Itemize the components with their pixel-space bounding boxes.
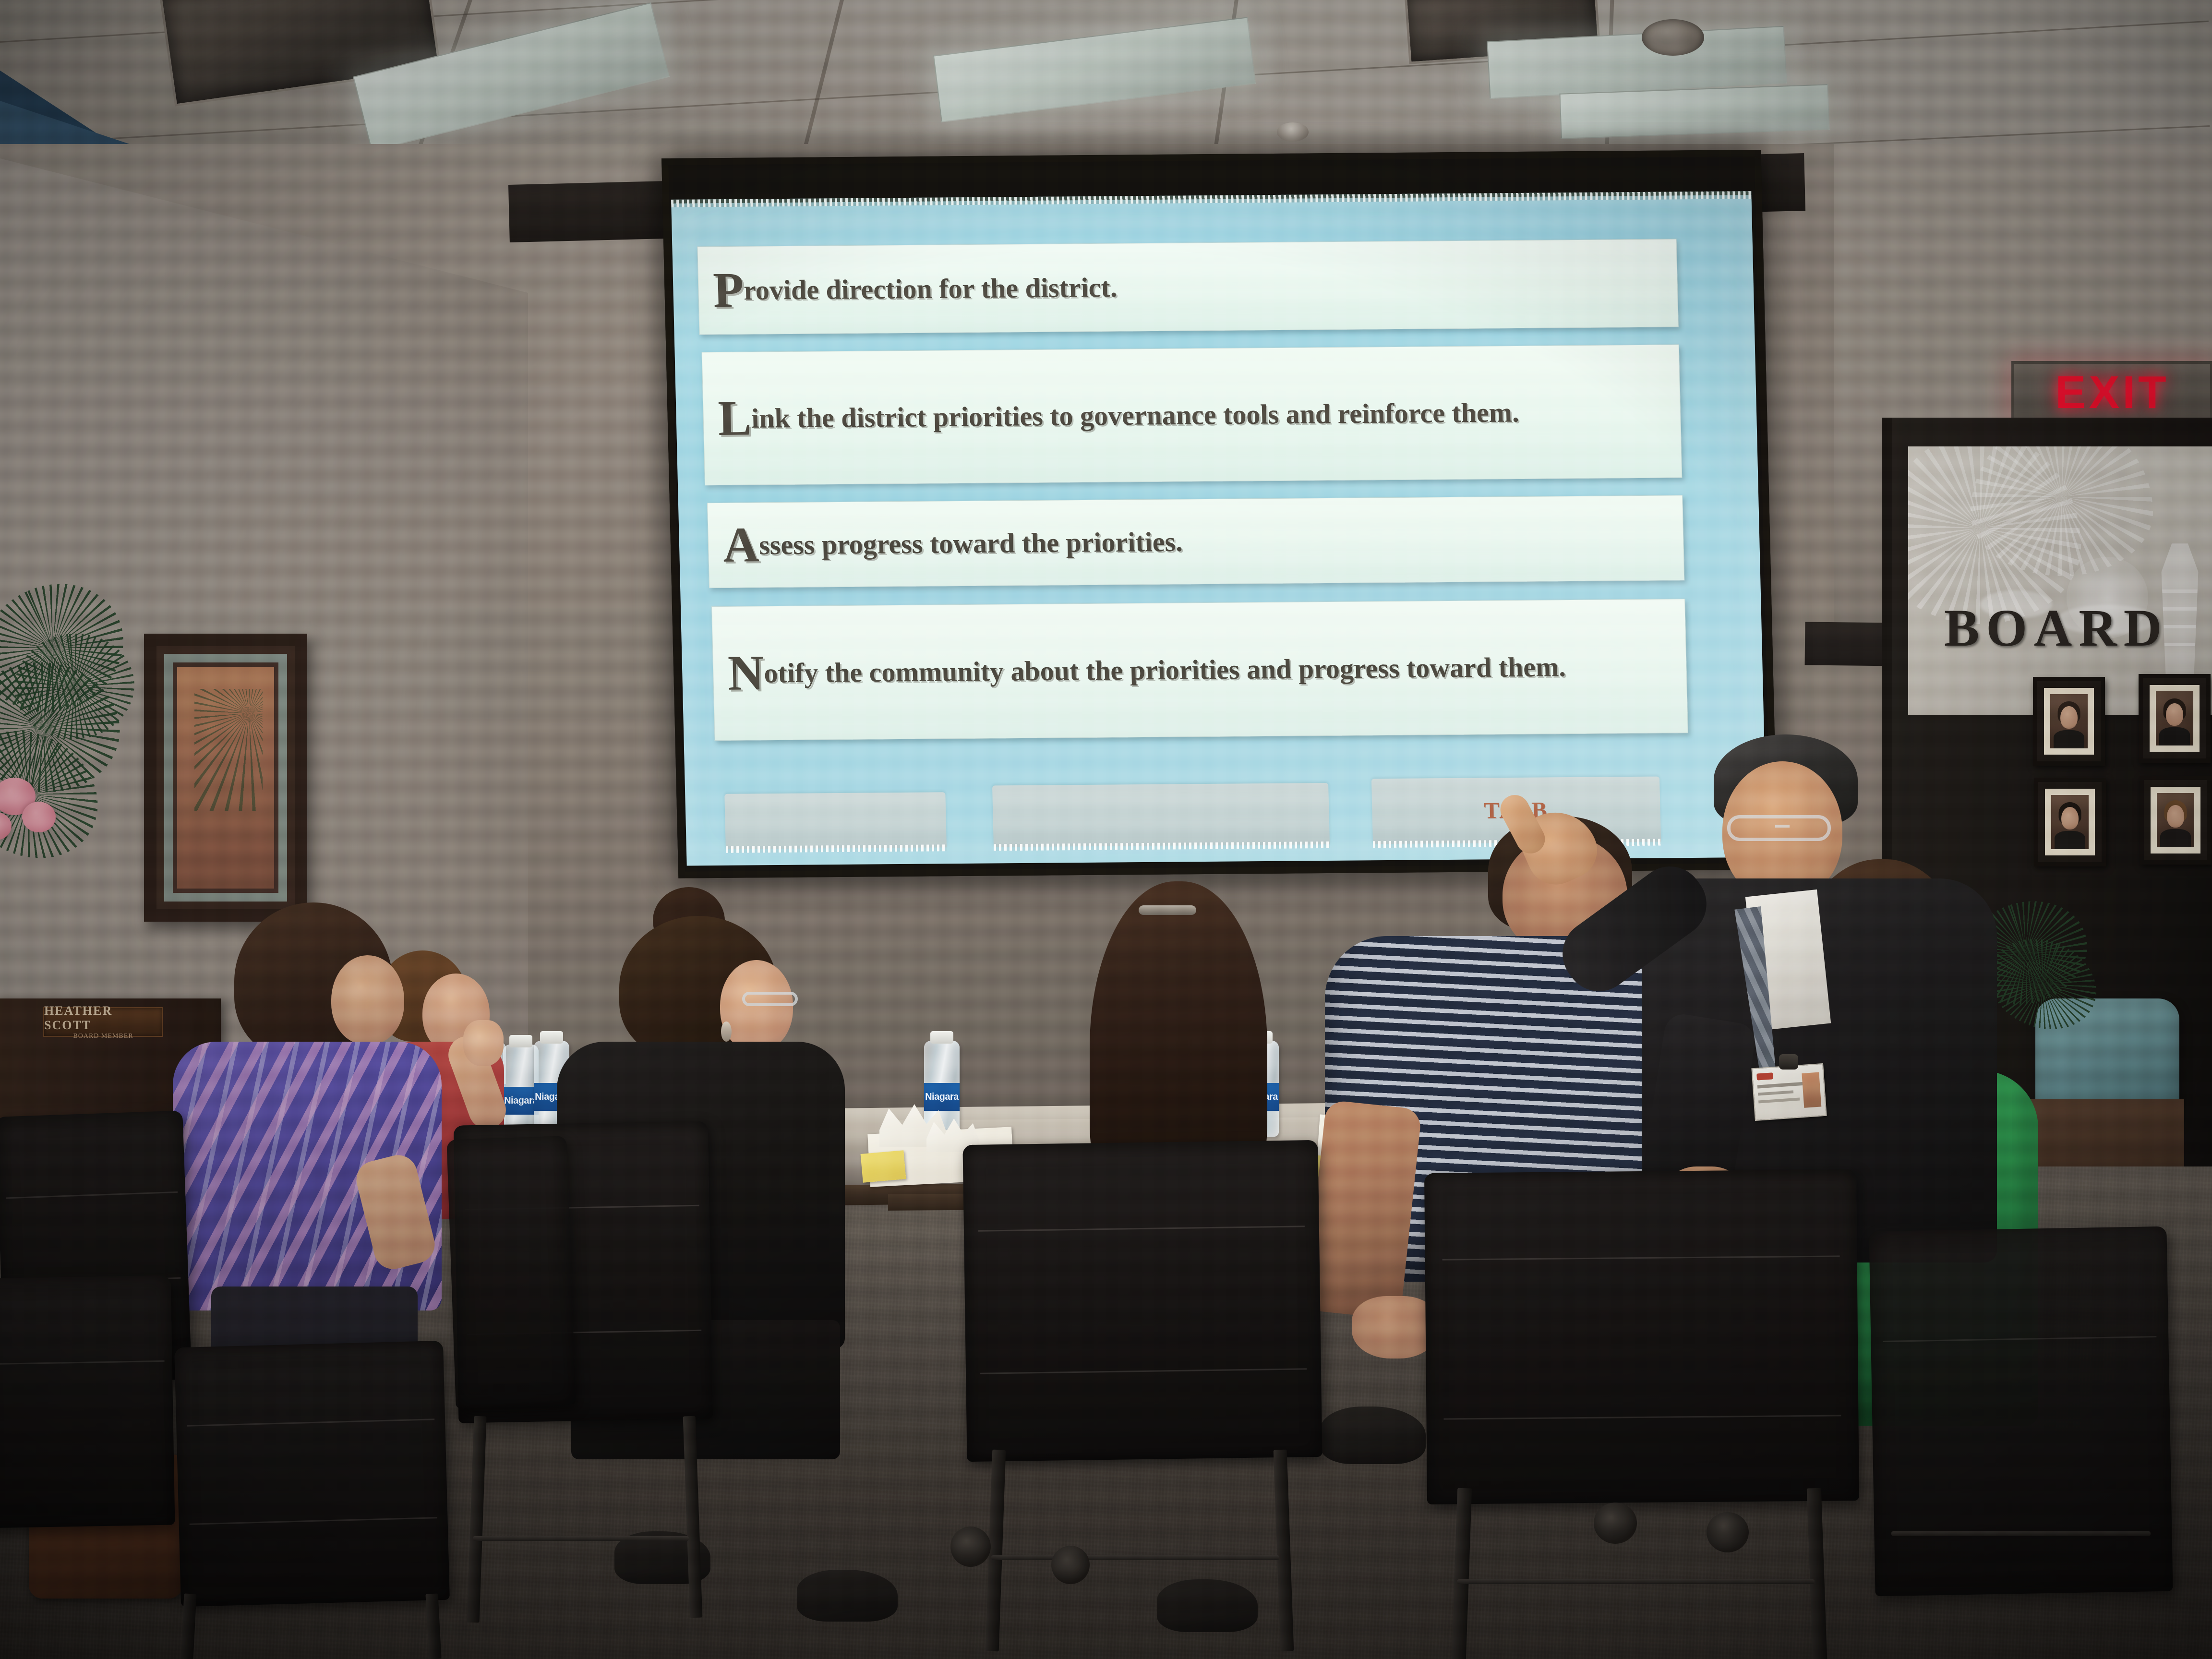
portrait-body (2159, 727, 2190, 745)
portrait-mat (2150, 685, 2200, 752)
slide-footer-box (992, 783, 1330, 847)
eyeglass-bridge (1775, 825, 1790, 828)
slide-dropcap: L (717, 391, 752, 446)
chair-seam (978, 1226, 1305, 1232)
portrait-head (2167, 805, 2184, 828)
ceiling-light-fixture (1560, 84, 1830, 139)
chair-caster (1707, 1512, 1749, 1552)
chair-caster (950, 1527, 991, 1567)
lighthouse-band (2156, 589, 2204, 593)
head (331, 955, 404, 1045)
portrait-photo (2157, 793, 2194, 847)
wall-portrait (2139, 674, 2211, 763)
slide-bullet-box: Provide direction for the district. (697, 239, 1679, 335)
portrait-head (2060, 706, 2078, 729)
chair-seam (1443, 1415, 1841, 1419)
dress-shoe (797, 1570, 898, 1622)
yellow-notepad (861, 1150, 906, 1183)
eyeglasses (1727, 815, 1831, 841)
portrait-body (2054, 730, 2084, 748)
slide-bullet-box: Notify the community about the prioritie… (711, 599, 1688, 741)
pink-flower (22, 802, 56, 832)
exit-sign: EXIT (2011, 361, 2212, 424)
framed-wall-art (144, 634, 307, 922)
badge-line (1758, 1098, 1800, 1104)
art-palm-motif (194, 689, 262, 811)
portrait-head (2166, 703, 2183, 726)
portrait-mat (2044, 688, 2094, 755)
badge-line (1758, 1090, 1793, 1095)
slide-bullet-box: Link the district priorities to governan… (702, 344, 1683, 485)
slide-surface: ◄ T ● I ≡ — ÷ ☰ ( Ⓤ ▫ ▸ ❘❘❘❘ ┌ ┐ ▔ ▃▃▃▃▃… (671, 191, 1767, 866)
eyeglasses (742, 992, 798, 1006)
slide-bullet-text: Assess progress toward the priorities. (708, 522, 1199, 565)
wall-portrait (2140, 776, 2212, 865)
chair-caster (1594, 1503, 1637, 1544)
chair-back[interactable] (1424, 1169, 1859, 1504)
smoke-detector (1277, 122, 1309, 142)
portrait-head (2061, 807, 2079, 829)
chair-seam (190, 1517, 437, 1525)
slide-bullet-box: Assess progress toward the priorities. (707, 495, 1684, 588)
chair-back[interactable] (962, 1140, 1322, 1462)
portrait-photo (2050, 694, 2088, 748)
nameplate-role: BOARD MEMBER (73, 1033, 133, 1040)
slide-bullet-text: Provide direction for the district. (698, 268, 1134, 310)
earring (721, 1022, 732, 1042)
chair-back[interactable] (0, 1275, 175, 1528)
potted-palm-plant (0, 576, 158, 941)
name-badge (1751, 1063, 1827, 1121)
art-mat (164, 654, 287, 902)
nameplate-name: HEATHER SCOTT (44, 1004, 162, 1033)
exit-sign-label: EXIT (2055, 366, 2169, 419)
art-canvas (173, 662, 278, 893)
bottle-label: Niagara (924, 1083, 960, 1111)
slide-bullet-rest: ssess progress toward the priorities. (758, 526, 1183, 561)
chair-caster (1051, 1546, 1090, 1584)
chair-rail (1891, 1531, 2151, 1536)
bottle-label: Niagara (503, 1087, 539, 1115)
portrait-photo (2156, 691, 2193, 745)
chair-seam (1443, 1256, 1840, 1261)
slide-bullet-rest: rovide direction for the district. (743, 272, 1118, 306)
chair-back[interactable] (446, 1136, 576, 1408)
hairclip (1139, 905, 1196, 915)
badge-logo-mark (1756, 1072, 1773, 1080)
chair-rail (1457, 1579, 1815, 1584)
projection-screen[interactable]: ◄ T ● I ≡ — ÷ ☰ ( Ⓤ ▫ ▸ ❘❘❘❘ ┌ ┐ ▔ ▃▃▃▃▃… (661, 150, 1778, 878)
chair-seam (187, 1419, 434, 1426)
slide-dropcap: A (722, 517, 760, 573)
board-wall-letters: BOARD (1944, 598, 2168, 659)
slide-dropcap: P (712, 263, 744, 318)
portrait-photo (2051, 795, 2089, 849)
slide-bullet-rest: otify the community about the priorities… (764, 651, 1566, 689)
slide-footer-comb (726, 844, 947, 853)
chair-back[interactable] (174, 1341, 450, 1607)
bottle-cap (509, 1035, 532, 1047)
ceiling-speaker (1642, 19, 1704, 56)
bottle-brand: Niagara (504, 1095, 538, 1106)
chair-rail (991, 1555, 1279, 1560)
hand (463, 1020, 504, 1066)
slide-bullet-text: Notify the community about the prioritie… (713, 647, 1582, 693)
slide-bullet-text: Link the district priorities to governan… (703, 393, 1536, 438)
bottle-brand: Niagara (925, 1092, 959, 1103)
slide-footer-box (724, 792, 947, 849)
chair-back[interactable] (1869, 1226, 2173, 1597)
dress-shoe (1157, 1579, 1258, 1632)
portrait-body (2160, 829, 2191, 847)
chair-seam (6, 1191, 178, 1199)
desk-nameplate: HEATHER SCOTT BOARD MEMBER (43, 1007, 163, 1037)
portrait-mat (2045, 789, 2095, 855)
chair-seam (1883, 1336, 2156, 1342)
portrait-body (2055, 831, 2085, 849)
wall-portrait (2033, 677, 2105, 766)
portrait-mat (2151, 787, 2200, 854)
wall-portrait (2034, 778, 2106, 866)
badge-clip (1779, 1054, 1798, 1070)
photo-scene: ◄ T ● I ≡ — ÷ ☰ ( Ⓤ ▫ ▸ ❘❘❘❘ ┌ ┐ ▔ ▃▃▃▃▃… (0, 0, 2212, 1659)
slide-dropcap: N (727, 646, 765, 701)
chair-seam (0, 1360, 165, 1365)
bottle-cap (930, 1031, 953, 1044)
chair-seam (980, 1368, 1307, 1374)
badge-line (1757, 1082, 1803, 1089)
chair-rail (473, 1536, 689, 1541)
badge-photo (1802, 1072, 1821, 1108)
slide-bullet-rest: ink the district priorities to governanc… (751, 397, 1519, 434)
palm-etching (1971, 446, 2153, 576)
